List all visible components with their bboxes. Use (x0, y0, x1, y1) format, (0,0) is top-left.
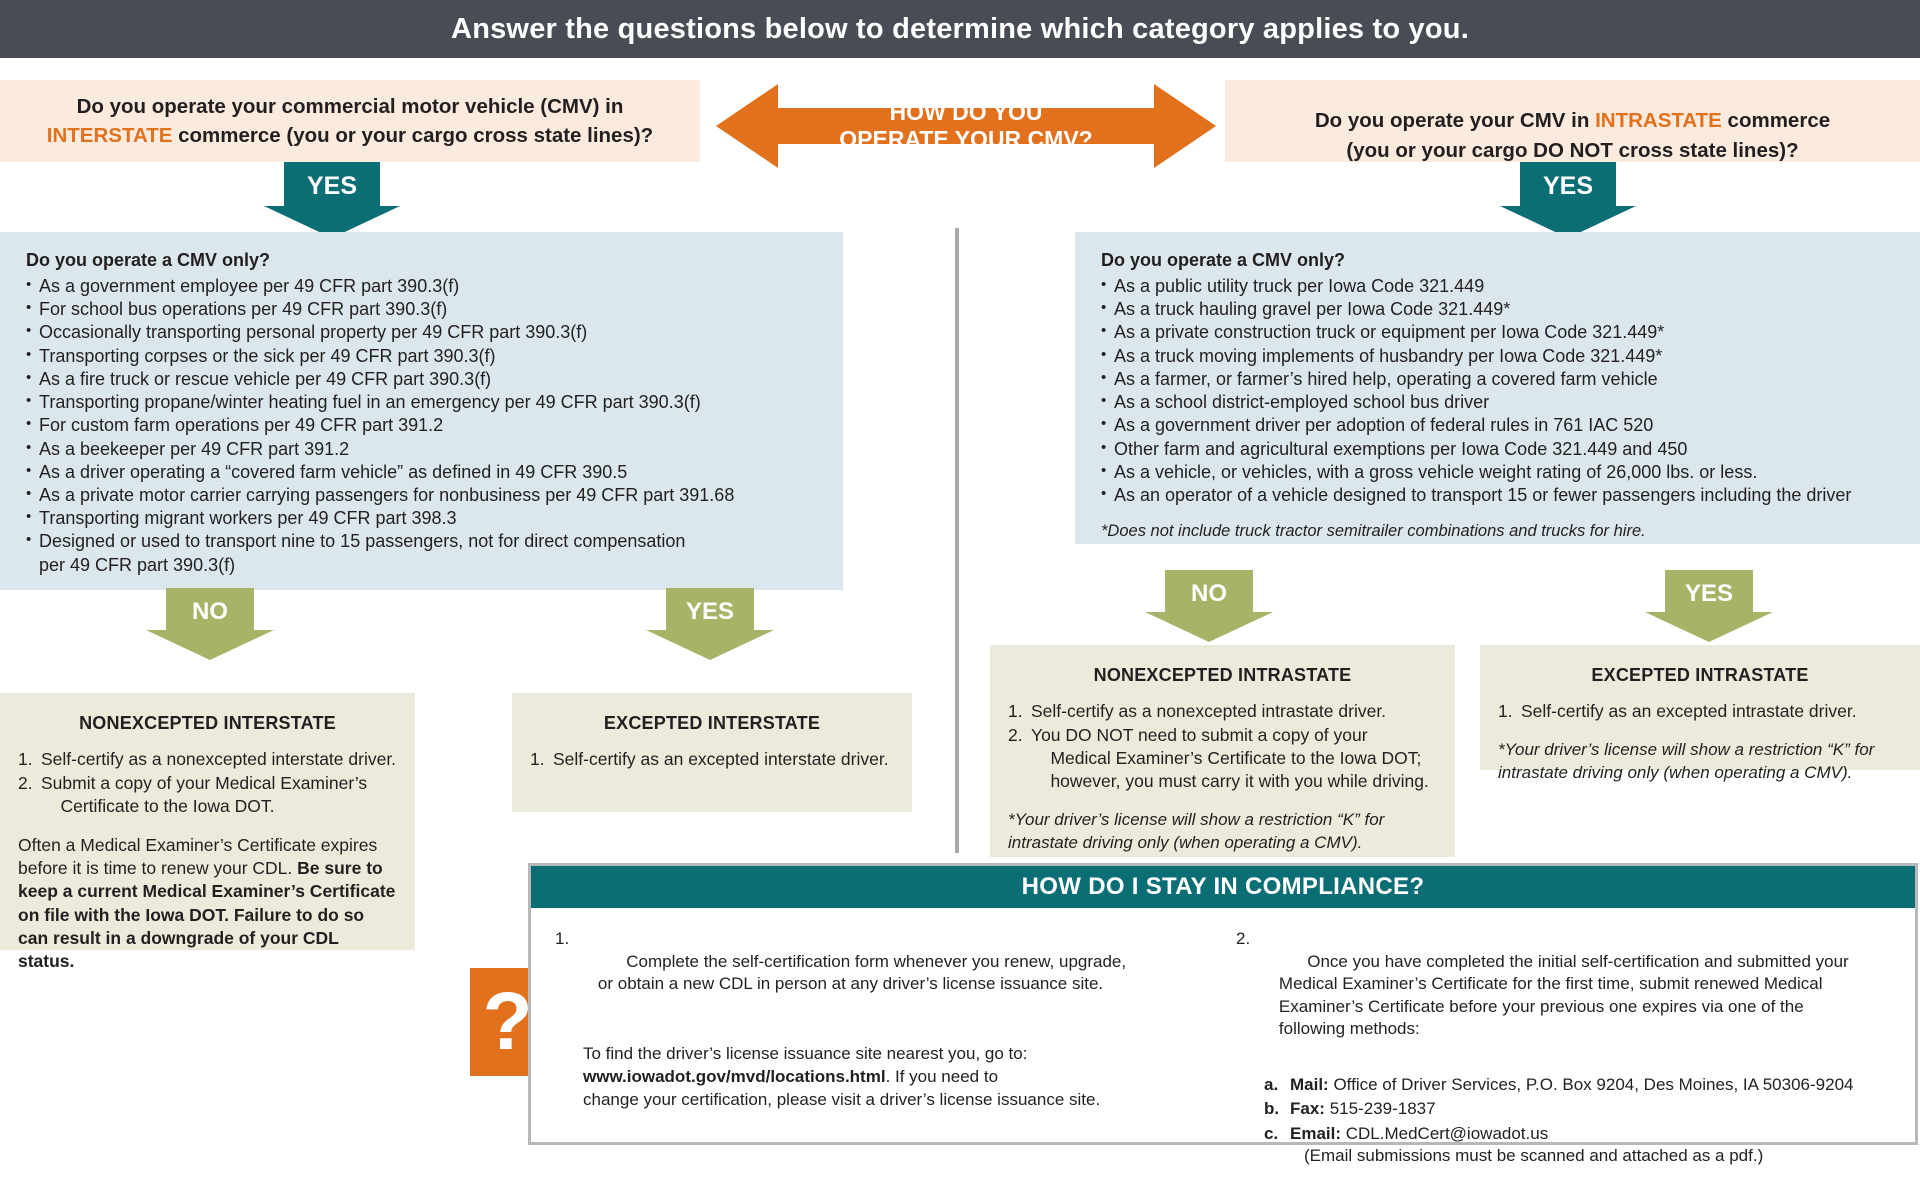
vertical-divider (955, 228, 959, 853)
list-item: Transporting migrant workers per 49 CFR … (26, 507, 823, 530)
list-item: 1.Self-certify as a nonexcepted intersta… (18, 748, 397, 771)
list-item: 2.Submit a copy of your Medical Examiner… (18, 772, 397, 818)
method-letter: b. (1264, 1098, 1279, 1121)
question-intrastate-pre: Do you operate your CMV in (1315, 109, 1595, 132)
result-title: EXCEPTED INTERSTATE (530, 713, 894, 734)
step-text: Self-certify as an excepted interstate d… (553, 749, 889, 769)
compliance-column-left: 1.Complete the self-certification form w… (555, 928, 1210, 1168)
yes-arrow-excepted-intrastate: YES (1645, 570, 1773, 642)
step-number: 2. (18, 772, 33, 795)
step-text: You DO NOT need to submit a copy of your… (1031, 725, 1429, 791)
result-italic-note: *Your driver’s license will show a restr… (1498, 739, 1902, 785)
double-arrow-icon (716, 78, 1216, 174)
method-value: Office of Driver Services, P.O. Box 9204… (1329, 1075, 1854, 1094)
interstate-highlight: INTERSTATE (47, 124, 173, 147)
step-number: 1. (555, 928, 569, 951)
list-item: Transporting propane/winter heating fuel… (26, 391, 823, 414)
question-intrastate-text: Do you operate your CMV in INTRASTATE co… (1315, 77, 1830, 164)
method-label: Mail: (1290, 1075, 1329, 1094)
interstate-criteria-box: Do you operate a CMV only? As a governme… (0, 232, 843, 590)
down-arrow-icon (146, 588, 274, 660)
down-arrow-icon (264, 162, 400, 238)
step-text: Self-certify as an excepted intrastate d… (1521, 701, 1857, 721)
result-excepted-intrastate: EXCEPTED INTRASTATE 1.Self-certify as an… (1480, 645, 1920, 770)
list-item: 1.Self-certify as a nonexcepted intrasta… (1008, 700, 1437, 723)
step-text: Self-certify as a nonexcepted intrastate… (1031, 701, 1386, 721)
interstate-criteria-heading: Do you operate a CMV only? (26, 250, 823, 271)
question-mark-glyph: ? (482, 981, 532, 1063)
step-number: 1. (530, 748, 545, 771)
compliance-step-2: 2.Once you have completed the initial se… (1236, 928, 1891, 1064)
email-note: (Email submissions must be scanned and a… (1264, 1145, 1891, 1168)
yes-arrow-intrastate: YES (1500, 162, 1636, 238)
step-number: 1. (1498, 700, 1513, 723)
result-title: NONEXCEPTED INTERSTATE (18, 713, 397, 734)
list-item: Transporting corpses or the sick per 49 … (26, 345, 823, 368)
result-title: NONEXCEPTED INTRASTATE (1008, 665, 1437, 686)
interstate-criteria-list: As a government employee per 49 CFR part… (26, 275, 823, 577)
intrastate-criteria-footnote: *Does not include truck tractor semitrai… (1101, 522, 1900, 541)
question-interstate-text: Do you operate your commercial motor veh… (14, 92, 686, 150)
list-item: As a private construction truck or equip… (1101, 321, 1900, 344)
result-steps: 1.Self-certify as an excepted intrastate… (1498, 700, 1902, 723)
compliance-step-1: 1.Complete the self-certification form w… (555, 928, 1210, 1018)
method-label: Email: (1290, 1124, 1341, 1143)
intrastate-criteria-list: As a public utility truck per Iowa Code … (1101, 275, 1900, 507)
list-item: As a vehicle, or vehicles, with a gross … (1101, 461, 1900, 484)
list-item: 2.You DO NOT need to submit a copy of yo… (1008, 724, 1437, 793)
list-item-continuation: per 49 CFR part 390.3(f) (26, 554, 823, 577)
down-arrow-icon (1500, 162, 1636, 238)
list-item: As a truck moving implements of husbandr… (1101, 345, 1900, 368)
down-arrow-icon (646, 588, 774, 660)
result-nonexcepted-intrastate: NONEXCEPTED INTRASTATE 1.Self-certify as… (990, 645, 1455, 857)
list-item: As a farmer, or farmer’s hired help, ope… (1101, 368, 1900, 391)
no-arrow-interstate: NO (146, 588, 274, 660)
locations-url[interactable]: www.iowadot.gov/mvd/locations.html (583, 1067, 886, 1086)
method-mail: a.Mail: Office of Driver Services, P.O. … (1264, 1074, 1891, 1097)
list-item: Other farm and agricultural exemptions p… (1101, 438, 1900, 461)
list-item: As a government driver per adoption of f… (1101, 414, 1900, 437)
intrastate-criteria-box: Do you operate a CMV only? As a public u… (1075, 232, 1920, 544)
intrastate-highlight: INTRASTATE (1595, 109, 1722, 132)
method-value: 515-239-1837 (1325, 1099, 1436, 1118)
step-number: 2. (1008, 724, 1023, 747)
list-item: 1.Self-certify as an excepted interstate… (530, 748, 894, 771)
compliance-header: HOW DO I STAY IN COMPLIANCE? (531, 866, 1915, 908)
method-value[interactable]: CDL.MedCert@iowadot.us (1341, 1124, 1548, 1143)
list-item: As a public utility truck per Iowa Code … (1101, 275, 1900, 298)
compliance-body: 1.Complete the self-certification form w… (531, 908, 1915, 1178)
question-interstate-post: commerce (you or your cargo cross state … (172, 124, 653, 147)
method-label: Fax: (1290, 1099, 1325, 1118)
compliance-methods: a.Mail: Office of Driver Services, P.O. … (1264, 1074, 1891, 1168)
step-number: 2. (1236, 928, 1250, 951)
list-item: 1.Self-certify as an excepted intrastate… (1498, 700, 1902, 723)
compliance-title: HOW DO I STAY IN COMPLIANCE? (1022, 873, 1425, 901)
down-arrow-icon (1645, 570, 1773, 642)
result-title: EXCEPTED INTRASTATE (1498, 665, 1902, 686)
down-arrow-icon (1145, 570, 1273, 642)
list-item: As a fire truck or rescue vehicle per 49… (26, 368, 823, 391)
step-text: Once you have completed the initial self… (1260, 952, 1849, 1039)
result-nonexcepted-interstate: NONEXCEPTED INTERSTATE 1.Self-certify as… (0, 693, 415, 950)
list-item: As a private motor carrier carrying pass… (26, 484, 823, 507)
how-do-you-operate-arrow: HOW DO YOU OPERATE YOUR CMV? (716, 78, 1216, 174)
list-item: As a driver operating a “covered farm ve… (26, 461, 823, 484)
compliance-column-right: 2.Once you have completed the initial se… (1236, 928, 1891, 1168)
step-number: 1. (1008, 700, 1023, 723)
step-number: 1. (18, 748, 33, 771)
list-item: Occasionally transporting personal prope… (26, 321, 823, 344)
list-item: For custom farm operations per 49 CFR pa… (26, 414, 823, 437)
method-email: c.Email: CDL.MedCert@iowadot.us (1264, 1123, 1891, 1146)
method-letter: a. (1264, 1074, 1278, 1097)
list-item: For school bus operations per 49 CFR par… (26, 298, 823, 321)
yes-arrow-interstate: YES (264, 162, 400, 238)
question-intrastate: Do you operate your CMV in INTRASTATE co… (1225, 80, 1920, 162)
result-steps: 1.Self-certify as a nonexcepted intrasta… (1008, 700, 1437, 793)
step-text: Submit a copy of your Medical Examiner’s… (41, 773, 367, 816)
method-letter: c. (1264, 1123, 1278, 1146)
result-paragraph: Often a Medical Examiner’s Certificate e… (18, 834, 397, 973)
result-steps: 1.Self-certify as a nonexcepted intersta… (18, 748, 397, 818)
step-text: Complete the self-certification form whe… (579, 952, 1126, 994)
list-item: As a government employee per 49 CFR part… (26, 275, 823, 298)
result-steps: 1.Self-certify as an excepted interstate… (530, 748, 894, 771)
result-excepted-interstate: EXCEPTED INTERSTATE 1.Self-certify as an… (512, 693, 912, 812)
intrastate-criteria-heading: Do you operate a CMV only? (1101, 250, 1900, 271)
no-arrow-intrastate: NO (1145, 570, 1273, 642)
method-fax: b.Fax: 515-239-1837 (1264, 1098, 1891, 1121)
spacer (555, 1018, 1210, 1035)
yes-arrow-excepted-interstate: YES (646, 588, 774, 660)
locations-pre: To find the driver’s license issuance si… (583, 1044, 1027, 1063)
question-interstate: Do you operate your commercial motor veh… (0, 80, 700, 162)
list-item: As a school district-employed school bus… (1101, 391, 1900, 414)
compliance-panel: HOW DO I STAY IN COMPLIANCE? 1.Complete … (528, 863, 1918, 1145)
header-bar: Answer the questions below to determine … (0, 0, 1920, 58)
list-item: As an operator of a vehicle designed to … (1101, 484, 1900, 507)
page-title: Answer the questions below to determine … (451, 13, 1469, 46)
question-interstate-pre: Do you operate your commercial motor veh… (77, 95, 624, 118)
list-item: As a beekeeper per 49 CFR part 391.2 (26, 438, 823, 461)
flowchart-page: Answer the questions below to determine … (0, 0, 1920, 1145)
compliance-locations-paragraph: To find the driver’s license issuance si… (583, 1043, 1210, 1111)
list-item: Designed or used to transport nine to 15… (26, 530, 823, 553)
list-item: As a truck hauling gravel per Iowa Code … (1101, 298, 1900, 321)
step-text: Self-certify as a nonexcepted interstate… (41, 749, 396, 769)
result-italic-note: *Your driver’s license will show a restr… (1008, 809, 1437, 855)
